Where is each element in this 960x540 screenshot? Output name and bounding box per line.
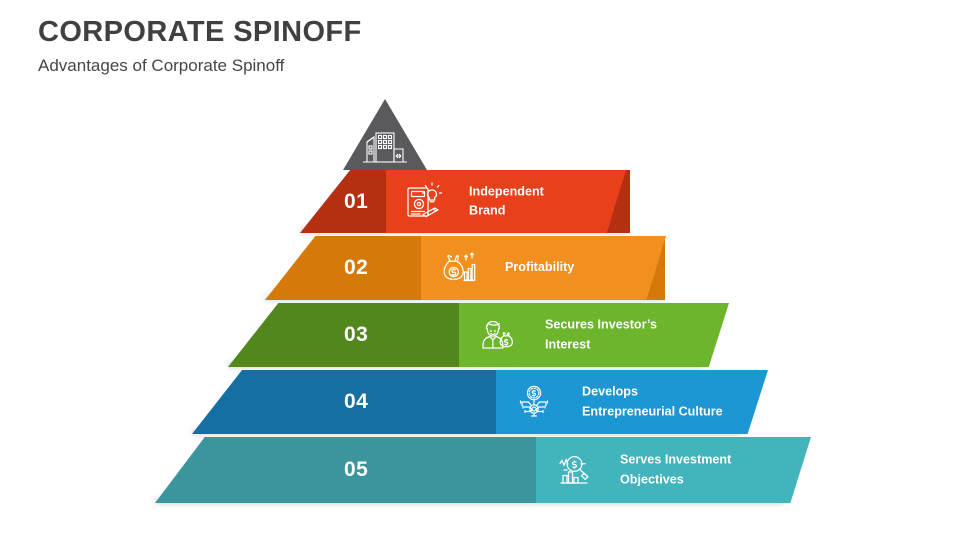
- pyramid-level-4-badge: [498, 371, 570, 433]
- coin-circuit-network-icon: [514, 382, 554, 422]
- office-building-icon: [363, 129, 407, 163]
- pyramid-level-5-label: Serves Investment Objectives: [620, 450, 731, 489]
- pyramid-level-3-badge: [461, 304, 533, 366]
- pyramid-level-1-number: 01: [344, 190, 368, 214]
- pyramid-diagram: 01 Independent Brand: [0, 0, 960, 540]
- pyramid-level-3[interactable]: 03 Secures Investor’s Interest: [0, 303, 960, 367]
- pyramid-level-1-label: Independent Brand: [469, 182, 544, 221]
- pyramid-level-5[interactable]: 05 Serves Investment Objectives: [0, 437, 960, 503]
- pyramid-level-2[interactable]: 02 Profitability: [0, 236, 960, 300]
- pyramid-level-4-number: 04: [344, 390, 368, 414]
- magnifier-dollar-chart-icon: [554, 450, 594, 490]
- pyramid-level-3-label: Secures Investor’s Interest: [545, 315, 657, 354]
- brand-design-idea-icon: [404, 182, 444, 222]
- pyramid-level-2-number: 02: [344, 256, 368, 280]
- pyramid-level-2-badge: [423, 237, 495, 299]
- pyramid-level-1[interactable]: 01 Independent Brand: [0, 170, 960, 233]
- pyramid-level-4-label: Develops Entrepreneurial Culture: [582, 382, 723, 421]
- pyramid-level-5-badge: [538, 439, 610, 501]
- investor-money-bag-icon: [477, 315, 517, 355]
- pyramid-level-3-number: 03: [344, 323, 368, 347]
- pyramid-level-4[interactable]: 04 Develops Entrepreneurial Culture: [0, 370, 960, 434]
- pyramid-level-5-number: 05: [344, 458, 368, 482]
- pyramid-level-1-badge: [388, 171, 460, 233]
- pyramid-level-2-label: Profitability: [505, 258, 574, 278]
- pyramid-apex: [343, 99, 427, 170]
- money-bag-growth-icon: [439, 248, 479, 288]
